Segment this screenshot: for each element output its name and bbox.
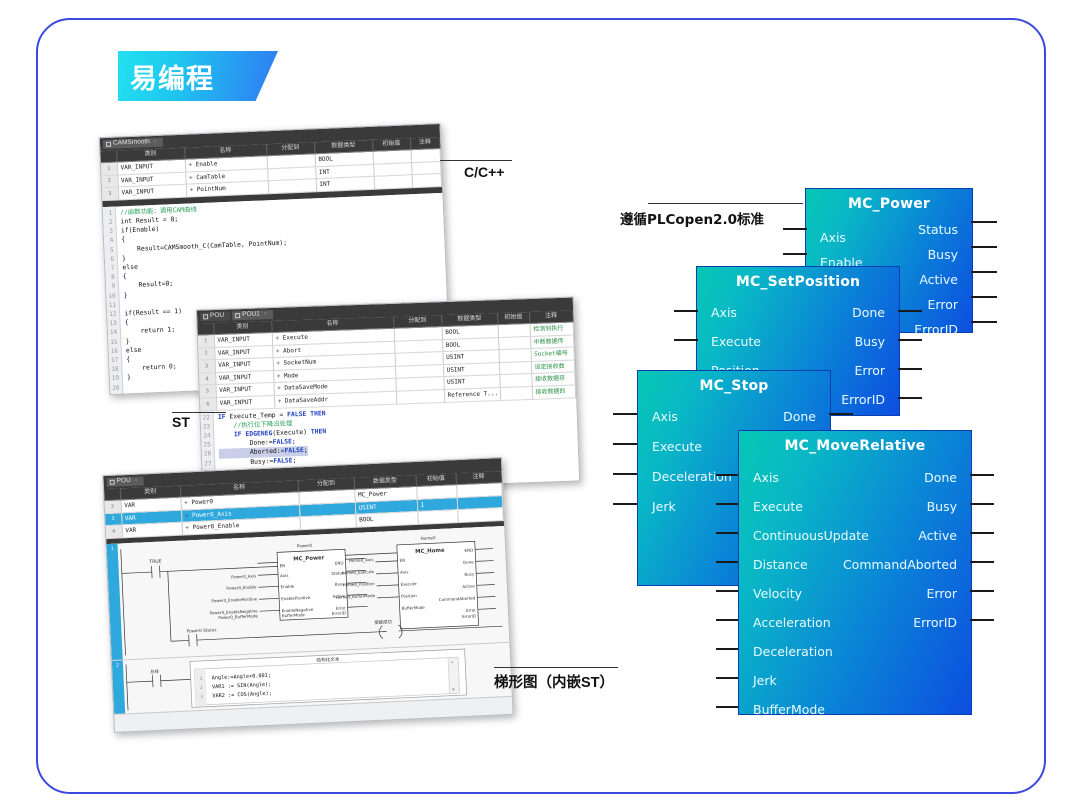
cell-index: 3 [199, 360, 215, 373]
svg-text:ErrorID: ErrorID [332, 610, 346, 616]
pin-in-axis: Axis [820, 230, 846, 245]
svg-text:^: ^ [450, 660, 454, 665]
svg-text:BufferMode: BufferMode [282, 612, 306, 618]
lead-power-axis [783, 228, 807, 230]
callout-line-c [440, 160, 512, 161]
col-index [104, 488, 121, 500]
ladder-rung-1[interactable]: 1 [106, 526, 509, 661]
tab-label: POU [117, 478, 131, 485]
variable-table-pou1: 类别 名称 分配到 数据类型 初始值 注释 1VAR_INPUTExecuteB… [197, 310, 576, 411]
svg-text:ErrorID: ErrorID [462, 613, 476, 619]
svg-text:ENO: ENO [464, 547, 473, 552]
fb-title: MC_Stop [638, 371, 830, 394]
lead-mr-jerk [716, 677, 738, 679]
tab-label: POU1 [242, 312, 260, 319]
lead-stop-deceleration [613, 473, 637, 475]
svg-text:Home0_Execute: Home0_Execute [342, 569, 375, 575]
lead-mr-axis [716, 474, 738, 476]
lead-mr-continuousupdate [716, 532, 738, 534]
cell-index: 3 [105, 512, 122, 525]
lead-power-active [971, 271, 997, 273]
cell-index: 6 [200, 397, 216, 410]
cell-initial [500, 386, 532, 400]
svg-text:Active: Active [462, 583, 475, 589]
pin-out-busy: Busy [928, 247, 958, 262]
svg-text:Home0_Axis: Home0_Axis [349, 557, 374, 563]
svg-text:Axis: Axis [280, 573, 289, 578]
lead-mr-execute [716, 503, 738, 505]
pin-in-axis: Axis [652, 409, 678, 424]
cell-comment [412, 174, 442, 188]
col-index [197, 323, 213, 335]
lead-stop-axis [613, 413, 637, 415]
lead-mr-buffermode [716, 706, 738, 708]
close-icon[interactable]: × [135, 479, 138, 484]
close-icon[interactable]: × [264, 312, 267, 317]
tab-pou1[interactable]: POU1 × [232, 310, 273, 320]
svg-text:Enable: Enable [280, 583, 294, 589]
svg-text:EN: EN [399, 557, 405, 562]
pin-in-axis: Axis [753, 470, 779, 485]
pin-out-done: Done [924, 470, 957, 485]
pin-out-error: Error [927, 586, 957, 601]
lead-power-busy [971, 246, 997, 248]
cell-initial [499, 374, 531, 388]
lead-stop-done [829, 413, 853, 415]
lead-mr-done [970, 474, 994, 476]
lead-power-error [971, 296, 997, 298]
pin-in-axis: Axis [711, 305, 737, 320]
pin-out-busy: Busy [855, 334, 885, 349]
pin-out-commandaborted: CommandAborted [843, 557, 957, 572]
cell-initial [498, 324, 530, 338]
branch-contact-label: Power0 Status [186, 627, 216, 633]
lead-setpos-busy [898, 339, 922, 341]
svg-text:Axis: Axis [400, 569, 409, 574]
svg-text:Power0_BufferMode: Power0_BufferMode [218, 613, 258, 620]
lead-mr-errorid [970, 619, 994, 621]
pin-out-done: Done [852, 305, 885, 320]
lead-power-errorid [971, 321, 997, 323]
cell-index: 2 [105, 500, 122, 513]
contact-label-2: 总线 [150, 668, 159, 674]
cell-comment: 接收数据的 [532, 385, 576, 399]
cell-index: 2 [198, 347, 214, 360]
cell-initial [498, 336, 530, 350]
pin-in-jerk: Jerk [652, 499, 676, 514]
document-icon [106, 142, 111, 147]
lead-mr-acceleration [716, 619, 738, 621]
callout-label-ladder: 梯形图（内嵌ST） [494, 671, 614, 692]
variable-rows-pou1: 1VAR_INPUTExecuteBOOL检测到执行2VAR_INPUTAbor… [198, 322, 576, 411]
banner-title: 易编程 [130, 57, 214, 96]
cell-initial [417, 510, 458, 524]
fb-title: MC_SetPosition [697, 267, 899, 290]
instance-label-home0: Home0 [420, 535, 436, 541]
callout-line-plcopen [648, 203, 803, 204]
lead-mr-error [970, 590, 994, 592]
contact-label: TRUE [148, 558, 162, 565]
svg-text:Home0_BufferMode: Home0_BufferMode [336, 593, 376, 600]
cell-initial [498, 349, 530, 363]
tab-pou[interactable]: POU × [106, 477, 143, 487]
col-index [100, 151, 116, 163]
pin-out-errorid: ErrorID [914, 322, 958, 337]
callout-label-c: C/C++ [464, 164, 504, 180]
ladder-rung-1-graphics: TRUE Power0 MC_Power EN Axis Enable Enab… [106, 526, 511, 661]
pin-out-busy: Busy [927, 499, 957, 514]
coil-label: 使能成功 [374, 618, 392, 626]
tab-pou[interactable]: POU [200, 312, 230, 322]
svg-text:Error: Error [466, 607, 476, 612]
svg-text:Power0_Axis: Power0_Axis [231, 573, 256, 579]
lead-mr-busy [970, 503, 994, 505]
cell-index: 4 [199, 372, 215, 385]
svg-text:Done: Done [463, 559, 474, 564]
plcopen-label: 遵循PLCopen2.0标准 [620, 208, 764, 228]
cell-index: 1 [101, 162, 118, 175]
pin-in-buffermode: BufferMode [753, 702, 825, 717]
cell-initial [374, 175, 412, 189]
lead-mr-commandaborted [970, 561, 994, 563]
lead-setpos-done [898, 310, 922, 312]
lead-setpos-axis [674, 310, 698, 312]
svg-text:Power0_EnablePositive: Power0_EnablePositive [211, 596, 257, 603]
pin-out-errorid: ErrorID [913, 615, 957, 630]
svg-text:BufferMode: BufferMode [402, 604, 426, 610]
document-icon [203, 314, 208, 319]
pin-in-deceleration: Deceleration [652, 469, 732, 484]
callout-label-st: ST [172, 414, 190, 430]
close-icon[interactable]: × [154, 140, 157, 145]
pin-out-errorid: ErrorID [841, 392, 885, 407]
cell-index: 4 [106, 525, 123, 538]
pin-in-distance: Distance [753, 557, 808, 572]
pin-in-continuousupdate: ContinuousUpdate [753, 528, 869, 543]
ladder-canvas[interactable]: 1 [106, 526, 511, 715]
svg-text:Busy: Busy [464, 571, 475, 576]
pin-in-execute: Execute [652, 439, 702, 454]
lead-setpos-errorid [898, 397, 922, 399]
pin-in-jerk: Jerk [753, 673, 777, 688]
lead-setpos-error [898, 368, 922, 370]
cell-initial [499, 361, 531, 375]
cell-index: 5 [200, 385, 216, 398]
pin-out-status: Status [918, 222, 958, 237]
function-block-mc-moverelative[interactable]: MC_MoveRelative Axis Execute ContinuousU… [738, 430, 972, 715]
fb-title: MC_MoveRelative [739, 431, 971, 454]
cell-index: 1 [198, 335, 214, 348]
window-pou-ladder[interactable]: POU × 类别 名称 分配到 数据类型 初始值 注释 2VARPower0MC… [102, 457, 513, 733]
pin-out-error: Error [928, 297, 958, 312]
svg-text:Power0_Enable: Power0_Enable [226, 584, 257, 590]
cell-index: 3 [102, 187, 119, 200]
lead-mr-deceleration [716, 648, 738, 650]
tab-label: POU [210, 313, 224, 320]
lead-setpos-execute [674, 339, 698, 341]
document-icon [235, 313, 240, 318]
pin-in-execute: Execute [711, 334, 761, 349]
pin-in-deceleration: Deceleration [753, 644, 833, 659]
fb-title: MC_Power [806, 189, 972, 212]
pin-in-velocity: Velocity [753, 586, 802, 601]
pin-out-active: Active [919, 272, 958, 287]
document-icon [110, 480, 115, 485]
lead-mr-distance [716, 561, 738, 563]
lead-stop-jerk [613, 503, 637, 505]
cell-datatype: Reference T... [444, 388, 500, 403]
tab-label: CAMSmooth [113, 139, 150, 147]
pin-out-error: Error [855, 363, 885, 378]
st-inline-code: Angle:=Angle+0.001; VAR1 := SIN(Angle); … [212, 673, 272, 700]
instance-label-power0: Power0 [297, 543, 313, 549]
svg-text:ENO: ENO [335, 560, 344, 565]
svg-text:Position: Position [401, 593, 417, 599]
svg-text:EN: EN [280, 563, 286, 568]
cell-assign [396, 390, 444, 404]
lead-power-enable [783, 253, 807, 255]
lead-mr-active [970, 532, 994, 534]
pin-out-active: Active [918, 528, 957, 543]
svg-text:Home0_Position: Home0_Position [343, 581, 376, 587]
section-banner: 易编程 [118, 51, 278, 101]
cell-index: 2 [101, 175, 118, 188]
callout-line-st [172, 412, 226, 413]
tab-camsmooth[interactable]: CAMSmooth × [103, 138, 163, 149]
rung-number: 2 [112, 660, 125, 713]
lead-power-status [971, 221, 997, 223]
pin-out-done: Done [783, 409, 816, 424]
svg-text:Execute: Execute [400, 581, 417, 587]
pin-in-execute: Execute [753, 499, 803, 514]
callout-line-ladder [494, 667, 618, 668]
lead-mr-velocity [716, 590, 738, 592]
pin-in-acceleration: Acceleration [753, 615, 831, 630]
lead-stop-execute [613, 443, 637, 445]
